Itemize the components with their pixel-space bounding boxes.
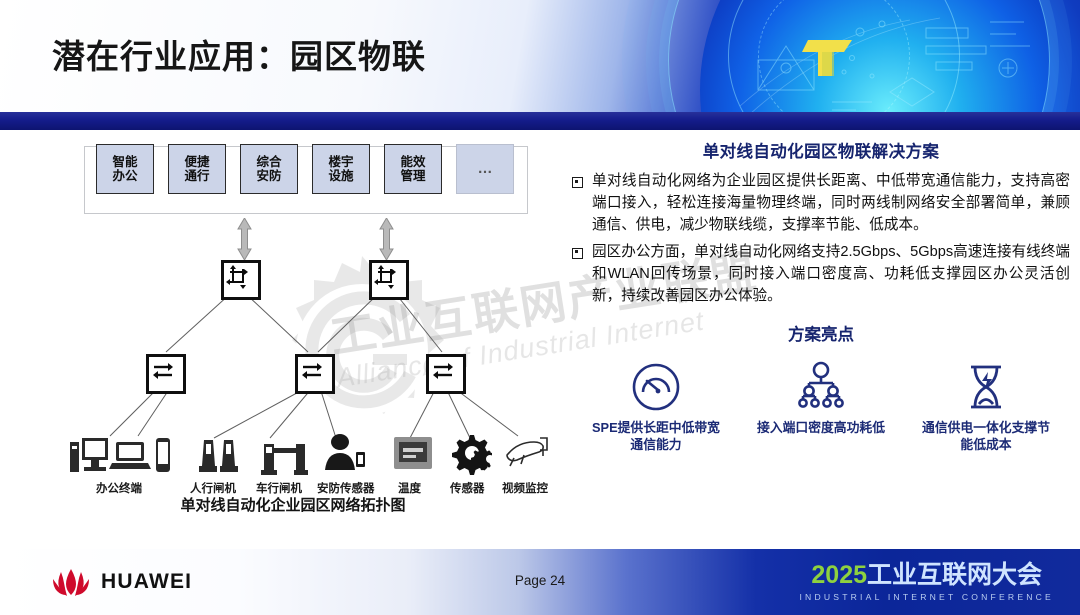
bullet-text: 园区办公方面，单对线自动化网络支持2.5Gbps、5Gbps高速连接有线终端和W… <box>592 241 1070 308</box>
security-sensor-icon <box>320 430 368 478</box>
bullet-square-icon <box>572 177 583 188</box>
switch-icon[interactable] <box>426 354 466 394</box>
hourglass-power-icon <box>920 359 1052 415</box>
slide-root: 潜在行业应用：园区物联 工业互联网产业联盟 Alliance of Indust… <box>0 0 1080 615</box>
diagram-caption: 单对线自动化企业园区网络拓扑图 <box>18 494 568 515</box>
highlights-row: SPE提供长距中低带宽通信能力 <box>572 359 1070 454</box>
bullet-text: 单对线自动化网络为企业园区提供长距离、中低带宽通信能力，支持高密端口接入，轻松连… <box>592 170 1070 237</box>
switch-icon[interactable] <box>295 354 335 394</box>
list-item: 园区办公方面，单对线自动化网络支持2.5Gbps、5Gbps高速连接有线终端和W… <box>572 241 1070 308</box>
highlight-item-bandwidth: SPE提供长距中低带宽通信能力 <box>590 359 722 454</box>
highlight-caption: SPE提供长距中低带宽通信能力 <box>590 419 722 454</box>
conference-name-cn: 工业互联网大会 <box>867 561 1042 589</box>
slide-header: 潜在行业应用：园区物联 <box>0 0 1080 112</box>
gear-sensor-icon <box>450 432 500 476</box>
conference-year: 2025 <box>811 561 867 589</box>
switch-icon[interactable] <box>146 354 186 394</box>
office-terminal-icon <box>68 432 180 480</box>
list-item: 单对线自动化网络为企业园区提供长距离、中低带宽通信能力，支持高密端口接入，轻松连… <box>572 170 1070 237</box>
router-icon[interactable] <box>369 260 409 300</box>
vehicle-barrier-icon <box>258 432 312 478</box>
network-topology-diagram: 智能 办公 便捷 通行 综合 安防 楼宇 设施 能效 管理 … <box>18 136 568 526</box>
slide-footer: HUAWEI Page 24 2025工业互联网大会 INDUSTRIAL IN… <box>0 549 1080 615</box>
router-icon[interactable] <box>221 260 261 300</box>
header-blue-band <box>0 112 1080 130</box>
highlight-item-power-over-data: 通信供电一体化支撑节能低成本 <box>920 359 1052 454</box>
solution-panel: 单对线自动化园区物联解决方案 单对线自动化网络为企业园区提供长距离、中低带宽通信… <box>572 138 1070 454</box>
highlights-heading: 方案亮点 <box>572 321 1070 345</box>
bullet-square-icon <box>572 248 583 259</box>
gauge-icon <box>590 359 722 415</box>
temperature-panel-icon <box>392 434 434 474</box>
t-logo-icon <box>798 30 862 86</box>
conference-name-en: INDUSTRIAL INTERNET CONFERENCE <box>799 592 1054 602</box>
cctv-camera-icon <box>502 432 550 474</box>
highlight-caption: 通信供电一体化支撑节能低成本 <box>920 419 1052 454</box>
pedestrian-gate-icon <box>196 432 242 478</box>
highlight-item-port-density: 接入端口密度高功耗低 <box>755 359 887 454</box>
solution-heading: 单对线自动化园区物联解决方案 <box>572 138 1070 162</box>
network-tree-icon <box>755 359 887 415</box>
page-title: 潜在行业应用：园区物联 <box>52 30 426 78</box>
header-hud-graphic <box>740 6 1040 112</box>
conference-logo: 2025工业互联网大会 INDUSTRIAL INTERNET CONFEREN… <box>799 563 1054 602</box>
highlight-caption: 接入端口密度高功耗低 <box>755 419 887 436</box>
solution-bullet-list: 单对线自动化网络为企业园区提供长距离、中低带宽通信能力，支持高密端口接入，轻松连… <box>572 170 1070 307</box>
